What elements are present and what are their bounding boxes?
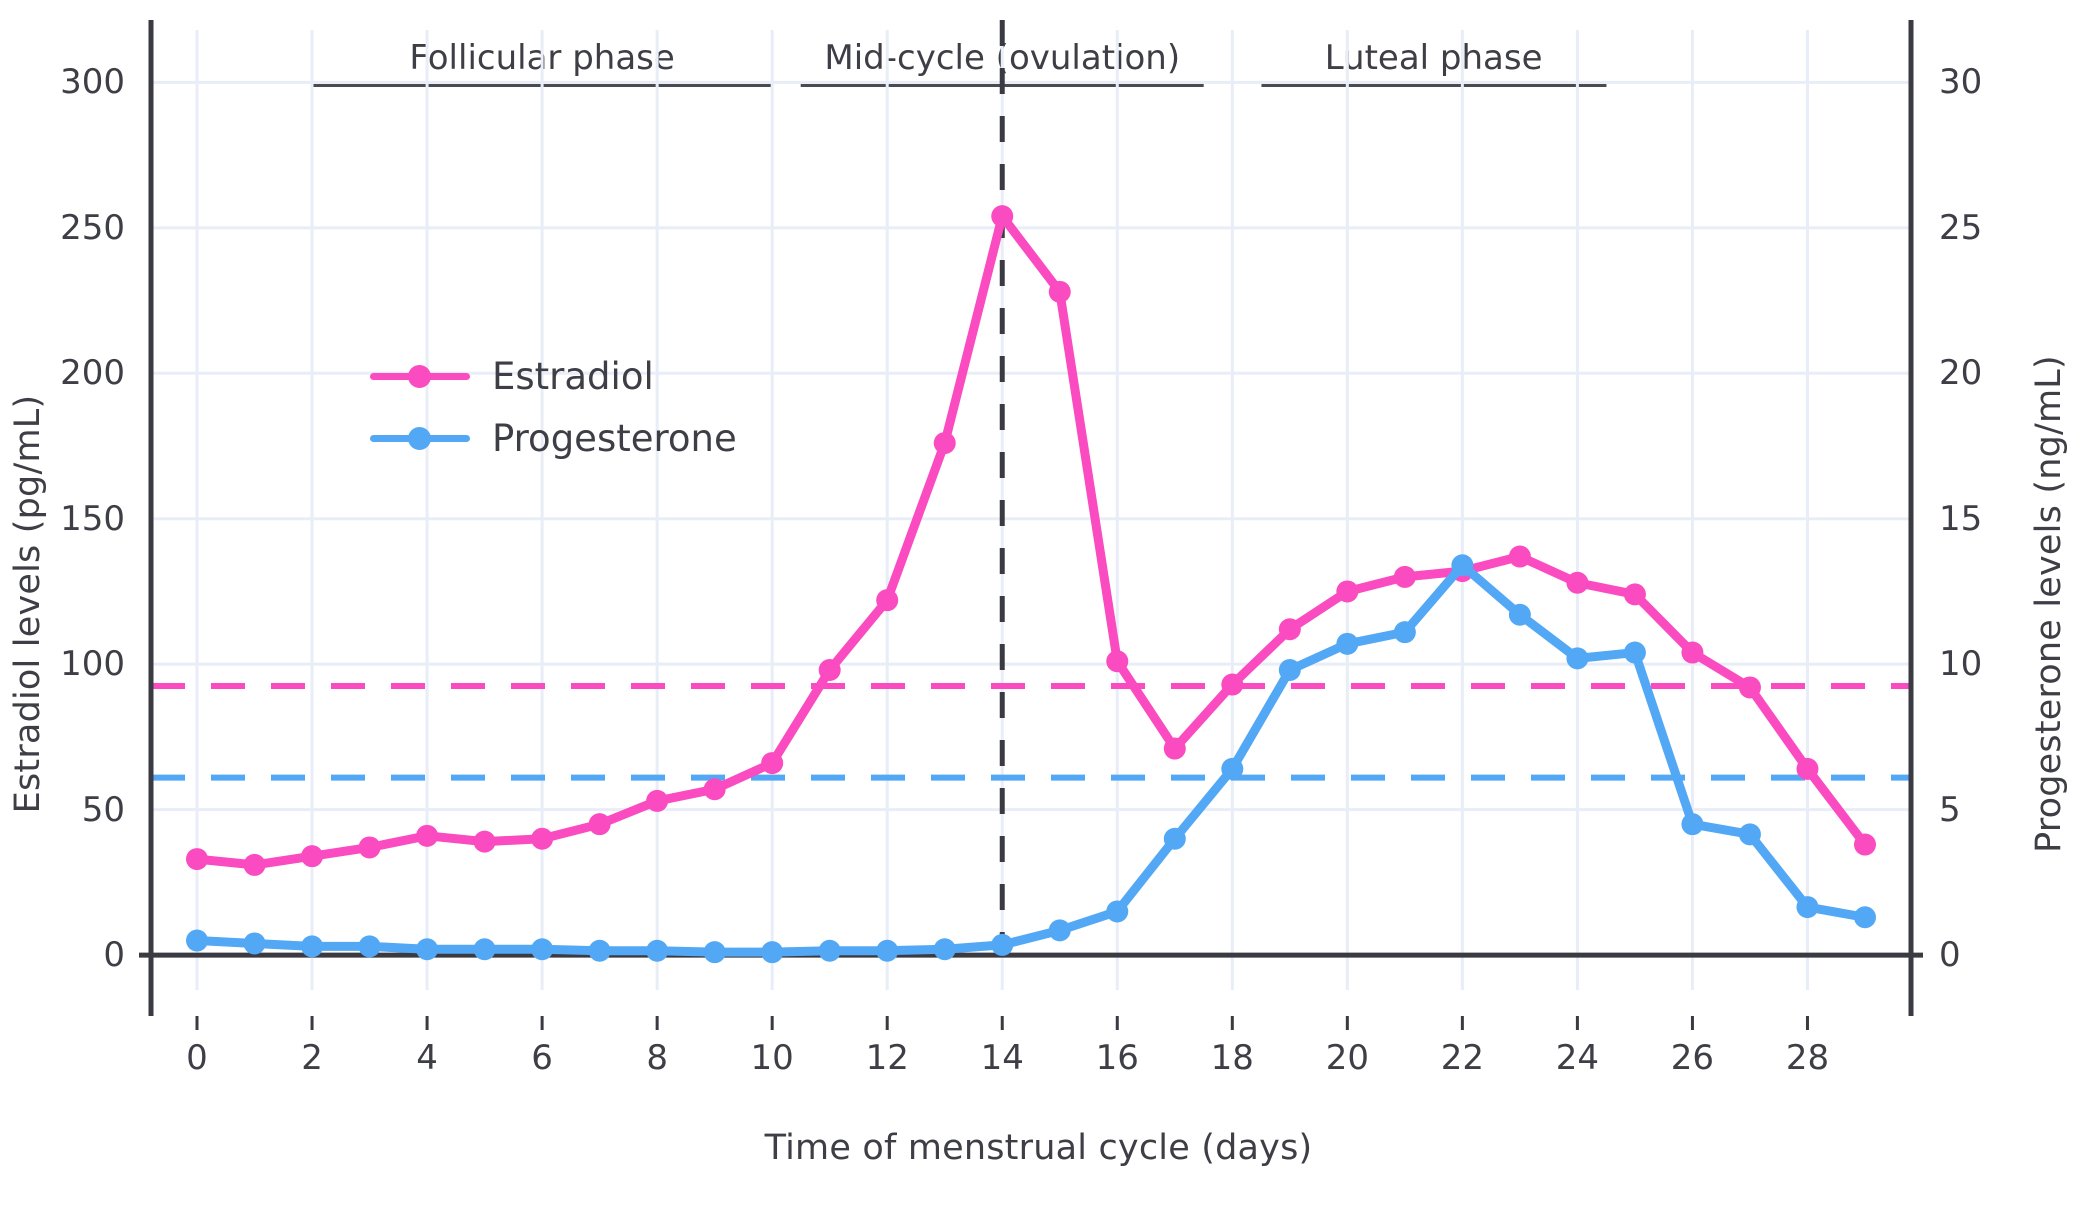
- legend-item-estradiol[interactable]: Estradiol: [370, 345, 737, 407]
- data-point-progesterone-day-17[interactable]: [1164, 828, 1186, 850]
- data-point-estradiol-day-14[interactable]: [991, 205, 1013, 227]
- y-axis-left-tick-label: 250: [20, 208, 125, 248]
- data-point-estradiol-day-9[interactable]: [704, 778, 726, 800]
- data-point-progesterone-day-1[interactable]: [244, 932, 266, 954]
- data-point-estradiol-day-1[interactable]: [244, 854, 266, 876]
- x-axis-tick-label: 22: [1441, 1038, 1484, 1078]
- y-axis-right-tick-label: 15: [1939, 499, 1982, 539]
- gridlines: [151, 30, 1911, 990]
- data-point-estradiol-day-15[interactable]: [1049, 281, 1071, 303]
- data-point-progesterone-day-22[interactable]: [1451, 554, 1473, 576]
- data-point-progesterone-day-24[interactable]: [1566, 647, 1588, 669]
- data-point-progesterone-day-13[interactable]: [934, 938, 956, 960]
- series-line-estradiol: [197, 216, 1865, 865]
- y-axis-right-tick-label: 25: [1939, 208, 1982, 248]
- x-axis-title: Time of menstrual cycle (days): [0, 1128, 2077, 1168]
- data-point-progesterone-day-10[interactable]: [761, 941, 783, 963]
- data-point-progesterone-day-16[interactable]: [1106, 900, 1128, 922]
- legend-item-progesterone[interactable]: Progesterone: [370, 407, 737, 469]
- y-axis-left-tick-label: 0: [20, 935, 125, 975]
- data-point-estradiol-day-4[interactable]: [416, 825, 438, 847]
- data-point-progesterone-day-19[interactable]: [1279, 659, 1301, 681]
- x-axis-tick-label: 28: [1786, 1038, 1829, 1078]
- x-axis-tick-label: 14: [981, 1038, 1024, 1078]
- data-point-progesterone-day-11[interactable]: [819, 940, 841, 962]
- data-series: [186, 205, 1876, 963]
- y-axis-right-tick-label: 10: [1939, 644, 1982, 684]
- data-point-progesterone-day-20[interactable]: [1336, 633, 1358, 655]
- x-axis-tick-label: 20: [1326, 1038, 1369, 1078]
- x-axis-tick-label: 8: [646, 1038, 668, 1078]
- data-point-estradiol-day-27[interactable]: [1739, 676, 1761, 698]
- data-point-estradiol-day-0[interactable]: [186, 848, 208, 870]
- data-point-estradiol-day-21[interactable]: [1394, 566, 1416, 588]
- data-point-progesterone-day-6[interactable]: [531, 938, 553, 960]
- data-point-progesterone-day-3[interactable]: [359, 935, 381, 957]
- data-point-estradiol-day-5[interactable]: [474, 831, 496, 853]
- y-axis-left-tick-label: 150: [20, 499, 125, 539]
- data-point-estradiol-day-17[interactable]: [1164, 738, 1186, 760]
- data-point-progesterone-day-18[interactable]: [1221, 758, 1243, 780]
- legend-swatch-progesterone: [370, 427, 470, 449]
- y-axis-left-tick-label: 50: [20, 790, 125, 830]
- data-point-estradiol-day-25[interactable]: [1624, 583, 1646, 605]
- data-point-progesterone-day-23[interactable]: [1509, 604, 1531, 626]
- legend-swatch-estradiol: [370, 365, 470, 387]
- data-point-estradiol-day-7[interactable]: [589, 813, 611, 835]
- data-point-progesterone-day-5[interactable]: [474, 938, 496, 960]
- data-point-progesterone-day-21[interactable]: [1394, 621, 1416, 643]
- data-point-progesterone-day-14[interactable]: [991, 934, 1013, 956]
- y-axis-right-tick-label: 5: [1939, 790, 1961, 830]
- data-point-estradiol-day-23[interactable]: [1509, 546, 1531, 568]
- data-point-estradiol-day-12[interactable]: [876, 589, 898, 611]
- y-axis-left-tick-label: 200: [20, 353, 125, 393]
- data-point-estradiol-day-11[interactable]: [819, 659, 841, 681]
- data-point-progesterone-day-8[interactable]: [646, 940, 668, 962]
- data-point-estradiol-day-26[interactable]: [1681, 642, 1703, 664]
- plot-area: [151, 30, 1911, 990]
- x-axis-tick-label: 4: [416, 1038, 438, 1078]
- data-point-estradiol-day-28[interactable]: [1796, 758, 1818, 780]
- x-axis-tick-label: 0: [186, 1038, 208, 1078]
- data-point-progesterone-day-26[interactable]: [1681, 813, 1703, 835]
- x-axis-tick-label: 26: [1671, 1038, 1714, 1078]
- legend-label-estradiol: Estradiol: [492, 355, 654, 398]
- data-point-progesterone-day-12[interactable]: [876, 940, 898, 962]
- data-point-estradiol-day-29[interactable]: [1854, 834, 1876, 856]
- plot-svg: [151, 30, 1911, 990]
- data-point-estradiol-day-8[interactable]: [646, 790, 668, 812]
- data-point-progesterone-day-7[interactable]: [589, 940, 611, 962]
- chart-legend[interactable]: Estradiol Progesterone: [370, 345, 737, 469]
- x-axis-tick-label: 6: [531, 1038, 553, 1078]
- data-point-estradiol-day-10[interactable]: [761, 752, 783, 774]
- data-point-estradiol-day-20[interactable]: [1336, 580, 1358, 602]
- data-point-progesterone-day-15[interactable]: [1049, 919, 1071, 941]
- data-point-progesterone-day-25[interactable]: [1624, 642, 1646, 664]
- data-point-estradiol-day-2[interactable]: [301, 845, 323, 867]
- data-point-estradiol-day-16[interactable]: [1106, 650, 1128, 672]
- data-point-progesterone-day-9[interactable]: [704, 941, 726, 963]
- data-point-progesterone-day-29[interactable]: [1854, 906, 1876, 928]
- x-axis-tick-label: 10: [751, 1038, 794, 1078]
- data-point-progesterone-day-27[interactable]: [1739, 823, 1761, 845]
- data-point-estradiol-day-24[interactable]: [1566, 572, 1588, 594]
- y-axis-right-tick-label: 0: [1939, 935, 1961, 975]
- data-point-progesterone-day-4[interactable]: [416, 938, 438, 960]
- data-point-progesterone-day-2[interactable]: [301, 935, 323, 957]
- data-point-estradiol-day-13[interactable]: [934, 432, 956, 454]
- data-point-progesterone-day-28[interactable]: [1796, 896, 1818, 918]
- data-point-estradiol-day-3[interactable]: [359, 836, 381, 858]
- x-axis-tick-label: 2: [301, 1038, 323, 1078]
- y-axis-right-title-text: Progesterone levels (ng/mL): [2029, 355, 2069, 853]
- x-axis-title-text: Time of menstrual cycle (days): [765, 1128, 1313, 1168]
- y-axis-right-tick-label: 30: [1939, 62, 1982, 102]
- data-point-estradiol-day-6[interactable]: [531, 828, 553, 850]
- legend-label-progesterone: Progesterone: [492, 417, 737, 460]
- data-point-estradiol-day-18[interactable]: [1221, 674, 1243, 696]
- x-axis-tick-label: 18: [1211, 1038, 1254, 1078]
- y-axis-left-tick-label: 300: [20, 62, 125, 102]
- axis-spines: [139, 20, 1923, 1030]
- data-point-estradiol-day-19[interactable]: [1279, 618, 1301, 640]
- y-axis-left-title: Estradiol levels (pg/mL): [0, 0, 56, 1208]
- series-line-progesterone: [197, 565, 1865, 952]
- y-axis-left-tick-label: 100: [20, 644, 125, 684]
- y-axis-right-tick-label: 20: [1939, 353, 1982, 393]
- y-axis-left-title-text: Estradiol levels (pg/mL): [8, 395, 48, 814]
- x-axis-tick-label: 16: [1096, 1038, 1139, 1078]
- y-axis-right-title: Progesterone levels (ng/mL): [2021, 0, 2077, 1208]
- data-point-progesterone-day-0[interactable]: [186, 930, 208, 952]
- x-axis-tick-label: 24: [1556, 1038, 1599, 1078]
- chart-figure: Estradiol levels (pg/mL) Progesterone le…: [0, 0, 2077, 1208]
- x-axis-tick-label: 12: [866, 1038, 909, 1078]
